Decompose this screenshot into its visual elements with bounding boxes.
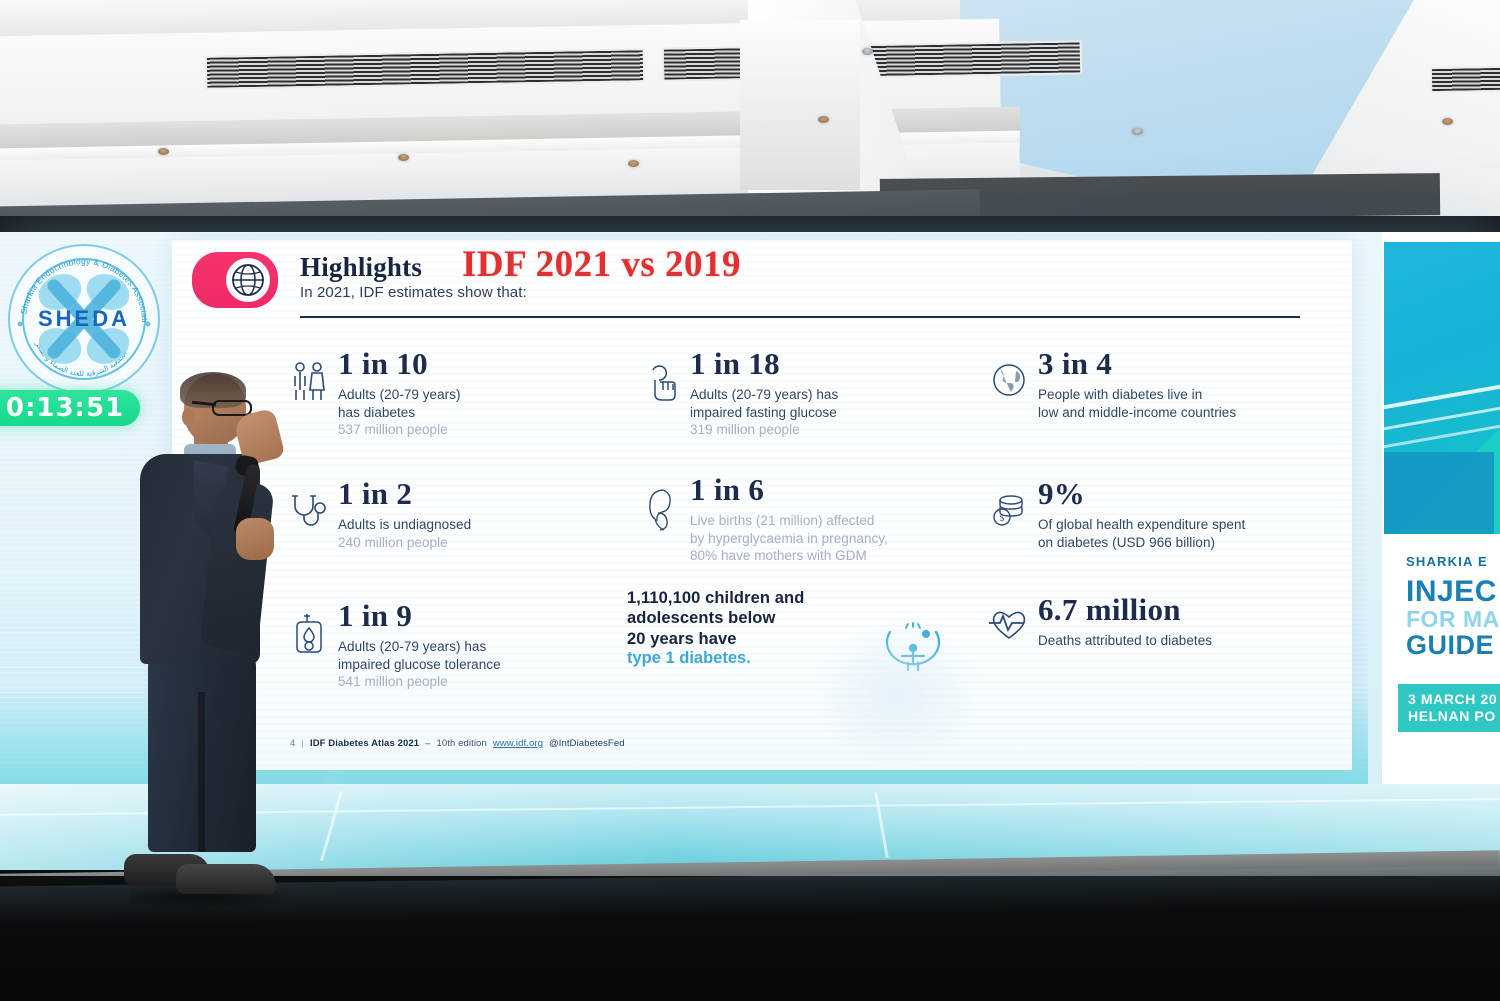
downlight-icon [398,154,409,161]
speaker-leg-split [198,692,205,852]
poster-wave-line [1384,377,1500,410]
poster-text: SHARKIA E INJEC FOR MAN GUIDE [1406,554,1500,659]
stat-highlight: 537 million people [338,421,632,439]
downlight-icon [158,148,169,155]
heart-pulse-icon [980,584,1038,644]
poster-dark-block [1384,452,1494,534]
stat-headline: 1 in 10 [338,348,632,381]
stat-desc: Deaths attributed to diabetes [1038,632,1328,650]
stat-line: impaired glucose tolerance [338,656,632,674]
stat-highlight: 319 million people [690,421,980,439]
stat-line: has diabetes [338,404,632,422]
stat-line: low and middle-income countries [1038,404,1328,422]
poster-heading-1: INJEC [1406,577,1500,607]
stat-item: 3 in 4 People with diabetes live in low … [980,346,1328,464]
stat-line: impaired fasting glucose [690,404,980,422]
poster-org: SHARKIA E [1406,554,1500,569]
footer-link[interactable]: www.idf.org [493,738,543,749]
stat-desc: Of global health expenditure spent on di… [1038,516,1328,552]
slide-footer: 4 | IDF Diabetes Atlas 2021 – 10th editi… [290,738,625,749]
stat-line: Deaths attributed to diabetes [1038,632,1328,650]
stat-text: 1 in 2 Adults is undiagnosed 240 million… [338,464,632,551]
type1-line: 1,110,100 children and [627,588,927,608]
footer-handle: @IntDiabetesFed [549,738,625,749]
stat-line: by hyperglycaemia in pregnancy, [690,530,980,548]
stat-item: 1 in 2 Adults is undiagnosed 240 million… [280,464,632,584]
stat-headline: 1 in 18 [690,348,980,381]
stat-text: 1 in 6 Live births (21 million) affected… [690,464,980,565]
stat-desc: People with diabetes live in low and mid… [1038,386,1328,422]
downlight-icon [818,116,829,123]
poster-date: 3 MARCH 20 [1408,691,1500,708]
poster-abstract-art [1384,242,1500,534]
stat-text: 3 in 4 People with diabetes live in low … [1038,346,1328,421]
hvac-vent-grille [1430,65,1500,93]
slide-header: Highlights IDF 2021 vs 2019 In 2021, IDF… [300,252,1300,301]
finger-prick-icon [632,346,690,404]
stat-text: 6.7 million Deaths attributed to diabete… [1038,584,1328,650]
footer-edition: 10th edition [437,738,487,749]
stat-desc: Adults (20-79 years) has diabetes 537 mi… [338,386,632,440]
pregnant-woman-icon [632,464,690,532]
speaker-ear [182,408,194,426]
ceiling-block [740,20,860,190]
stat-desc: Adults (20-79 years) has impaired glucos… [338,638,632,692]
footer-separator: | [301,738,304,749]
downlight-icon [628,160,639,167]
poster-venue: HELNAN PO [1408,708,1500,725]
conference-photo-scene: Sharkia Endocrinology & Diabetes Associa… [0,0,1500,1001]
stat-headline: 3 in 4 [1038,348,1328,381]
downlight-icon [862,48,873,55]
stat-headline: 9% [1038,478,1328,511]
stat-line: Adults (20-79 years) has [690,386,980,404]
header-divider [300,316,1300,318]
logo-wordmark: SHEDA [8,306,160,332]
stat-line: Adults (20-79 years) has [338,638,632,656]
footer-source: IDF Diabetes Atlas 2021 [310,738,419,749]
coins-dollar-icon: $ [980,464,1038,530]
svg-text:$: $ [1000,513,1005,523]
slide-subtitle: In 2021, IDF estimates show that: [300,284,1300,301]
stat-desc: Adults is undiagnosed 240 million people [338,516,632,552]
slide-title: IDF 2021 vs 2019 [462,243,741,286]
poster-wave-line [1384,417,1500,449]
stat-line: Adults is undiagnosed [338,516,632,534]
stat-headline: 1 in 2 [338,478,632,511]
downlight-icon [1132,128,1143,135]
stat-item: 1 in 18 Adults (20-79 years) has impaire… [632,346,980,464]
highlights-label: Highlights [300,252,422,283]
stat-headline: 1 in 6 [690,474,980,507]
speaker [120,372,300,912]
stat-text: 1 in 18 Adults (20-79 years) has impaire… [690,346,980,439]
stat-line: Live births (21 million) affected [690,512,980,530]
stat-line: 80% have mothers with GDM [690,547,980,565]
stat-line: People with diabetes live in [1038,386,1328,404]
stat-line: Adults (20-79 years) [338,386,632,404]
globe-world-icon [980,346,1038,402]
speaker-shoe [176,864,276,894]
speaker-hand [236,518,274,560]
stat-text: 1 in 9 Adults (20-79 years) has impaired… [338,584,632,691]
stat-item: $ 9% Of global health expenditure spent … [980,464,1328,584]
poster-date-badge: 3 MARCH 20 HELNAN PO [1398,684,1500,732]
stat-line: Of global health expenditure spent [1038,516,1328,534]
stat-item: 6.7 million Deaths attributed to diabete… [980,584,1328,704]
stat-text: 1 in 10 Adults (20-79 years) has diabete… [338,346,632,439]
stat-headline: 1 in 9 [338,600,632,633]
stats-row: 1 in 2 Adults is undiagnosed 240 million… [280,464,1340,584]
event-poster-panel: SHARKIA E INJEC FOR MAN GUIDE 3 MARCH 20… [1368,232,1500,808]
countdown-timer: 0:13:51 [0,390,140,426]
stat-highlight: 240 million people [338,534,632,552]
poster-left-strip [1368,232,1382,808]
stat-text: 9% Of global health expenditure spent on… [1038,464,1328,551]
stat-desc: Live births (21 million) affected by hyp… [690,512,980,566]
timer-value: 0:13:51 [6,393,124,423]
poster-heading-3: GUIDE [1406,631,1500,659]
stat-item: 1 in 10 Adults (20-79 years) has diabete… [280,346,632,464]
globe-badge [192,252,278,308]
slide-glare [812,620,982,770]
ceiling [0,0,1500,232]
stats-row: 1 in 10 Adults (20-79 years) has diabete… [280,346,1340,464]
stat-line: on diabetes (USD 966 billion) [1038,534,1328,552]
stat-headline: 6.7 million [1038,594,1328,627]
downlight-icon [1442,118,1453,125]
footer-dash: – [425,738,430,749]
stat-desc: Adults (20-79 years) has impaired fastin… [690,386,980,440]
stat-item: 1 in 6 Live births (21 million) affected… [632,464,980,584]
stat-item: 1 in 9 Adults (20-79 years) has impaired… [280,584,632,704]
globe-icon [226,258,270,302]
poster-heading-2: FOR MAN [1406,607,1500,631]
stat-highlight: 541 million people [338,673,632,691]
presentation-slide: Highlights IDF 2021 vs 2019 In 2021, IDF… [172,240,1352,770]
